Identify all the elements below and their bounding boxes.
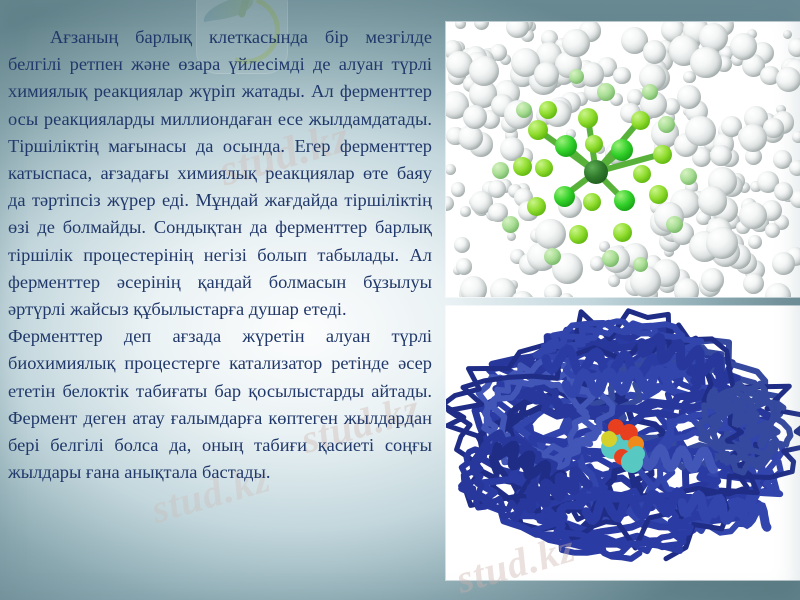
- molecule-atom-sphere: [633, 165, 651, 183]
- molecule-atom-sphere: [613, 223, 632, 242]
- text-column: Ағзаның барлық клеткасында бір мезгілде …: [0, 24, 438, 486]
- molecule-atom-sphere: [776, 67, 800, 92]
- molecule-atom-sphere: [613, 67, 630, 84]
- molecule-atom-sphere: [748, 235, 762, 249]
- molecule-atom-sphere: [460, 206, 470, 216]
- molecule-atom-sphere: [528, 120, 548, 140]
- molecule-atom-sphere: [739, 124, 767, 152]
- molecule-atom-sphere: [642, 84, 658, 100]
- molecule-atom-sphere: [544, 248, 561, 265]
- molecule-atom-sphere: [677, 85, 701, 109]
- molecule-atom-sphere: [460, 276, 487, 297]
- molecule-atom-sphere: [690, 47, 721, 78]
- logo-leaf-shape: [201, 0, 255, 22]
- molecule-atom-sphere: [653, 145, 672, 164]
- space-filling-molecule-image: stud.kz stud.kz: [446, 22, 800, 297]
- molecule-atom-sphere: [792, 131, 800, 143]
- molecule-atom-sphere: [765, 283, 791, 297]
- molecule-atom-sphere: [555, 135, 577, 157]
- molecule-atom-sphere: [446, 196, 454, 211]
- molecule-atom-sphere: [685, 116, 716, 147]
- molecule-atom-sphere: [658, 116, 675, 133]
- molecule-atom-sphere: [630, 266, 661, 297]
- protein-ribbon-svg: [446, 306, 800, 580]
- molecule-atom-sphere: [788, 38, 800, 57]
- paragraph-1: Ағзаның барлық клеткасында бір мезгілде …: [8, 24, 432, 323]
- logo-stem-shape: [237, 0, 253, 18]
- molecule-atom-sphere: [633, 257, 648, 272]
- slide-canvas: stud.kz stud.kz stud.kz Ағзаның барлық к…: [0, 0, 800, 600]
- molecule-atom-sphere: [451, 182, 465, 196]
- molecule-atom-sphere: [455, 22, 465, 29]
- molecule-atom-sphere: [454, 237, 470, 253]
- molecule-atom-sphere: [569, 225, 588, 244]
- molecule-atom-sphere: [783, 30, 792, 39]
- molecule-atom-sphere: [765, 223, 781, 239]
- paragraph-2: Ферменттер деп ағзада жүретін алуан түрл…: [8, 323, 432, 486]
- molecule-atom-sphere: [527, 197, 546, 216]
- molecule-canvas: [446, 22, 800, 297]
- molecule-atom-sphere: [578, 108, 598, 128]
- molecule-atom-sphere: [631, 111, 650, 130]
- molecule-atom-sphere: [539, 101, 557, 119]
- molecule-atom-sphere: [534, 62, 559, 87]
- molecule-atom-sphere: [772, 252, 795, 275]
- molecule-atom-sphere: [701, 268, 724, 291]
- molecule-atom-sphere: [649, 185, 668, 204]
- molecule-atom-sphere: [507, 232, 516, 241]
- molecule-atom-sphere: [614, 190, 635, 211]
- molecule-atom-sphere: [739, 202, 767, 230]
- molecule-atom-sphere: [584, 160, 608, 184]
- molecule-atom-sphere: [698, 186, 728, 216]
- molecule-atom-sphere: [474, 22, 489, 30]
- protein-ribbon-diagram-image: stud.kz stud.kz: [446, 306, 800, 580]
- molecule-atom-sphere: [611, 139, 633, 161]
- molecule-atom-sphere: [602, 250, 619, 267]
- molecule-atom-sphere: [710, 145, 731, 166]
- molecule-atom-sphere: [554, 186, 575, 207]
- molecule-atom-sphere: [516, 102, 532, 118]
- molecule-atom-sphere: [743, 273, 764, 294]
- molecule-atom-sphere: [446, 164, 456, 175]
- molecule-atom-sphere: [535, 159, 553, 177]
- molecule-atom-sphere: [789, 160, 800, 176]
- molecule-atom-sphere: [666, 216, 683, 233]
- molecule-atom-sphere: [492, 162, 509, 179]
- molecule-atom-sphere: [535, 219, 566, 250]
- molecule-atom-sphere: [774, 182, 793, 201]
- molecule-atom-sphere: [569, 69, 584, 84]
- molecule-atom-sphere: [585, 135, 603, 153]
- molecule-atom-sphere: [730, 33, 757, 60]
- ligand-atom: [601, 431, 617, 447]
- protein-canvas: [446, 306, 800, 580]
- molecule-atom-sphere: [680, 168, 697, 185]
- molecule-atom-sphere: [469, 56, 499, 86]
- ligand-atom: [629, 446, 645, 462]
- molecule-atom-sphere: [706, 227, 738, 259]
- molecule-atom-sphere: [562, 29, 590, 57]
- molecule-atom-sphere: [456, 258, 473, 275]
- molecule-atom-sphere: [597, 83, 615, 101]
- molecule-atom-sphere: [502, 216, 519, 233]
- molecule-atom-sphere: [643, 40, 666, 63]
- molecule-atom-sphere: [583, 193, 601, 211]
- molecule-atom-sphere: [463, 105, 487, 129]
- molecule-atom-sphere: [513, 157, 532, 176]
